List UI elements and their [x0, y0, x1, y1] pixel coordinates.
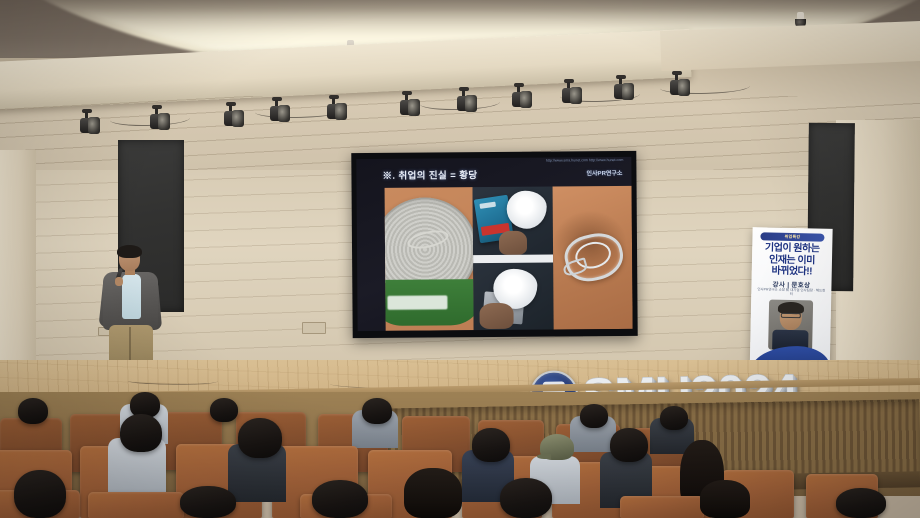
- stage-light-icon: [612, 78, 634, 104]
- audience-head: [312, 480, 368, 518]
- stage-light-icon: [398, 94, 420, 120]
- banner-speaker-photo: [768, 300, 813, 351]
- audience-head: [700, 480, 750, 518]
- stage-light-icon: [148, 108, 170, 134]
- audience-head: [362, 398, 392, 424]
- audience-head: [238, 418, 282, 458]
- audience-head: [580, 404, 608, 428]
- presentation-slide: http://www.sma.hunet.com http://www.hune…: [356, 157, 632, 331]
- banner-speaker-affiliation: 인사PR연구소 소장 前 대기업 인사팀장 · 헤드헌터: [756, 287, 826, 297]
- slide-url-text: http://www.sma.hunet.com http://www.hune…: [546, 158, 624, 163]
- audience-head: [610, 428, 648, 462]
- presenter-hair: [117, 245, 142, 258]
- audience-head: [180, 486, 236, 518]
- stage-light-icon: [78, 112, 100, 138]
- audience-head: [472, 428, 510, 462]
- stage-light-icon: [668, 74, 690, 100]
- stage-light-icon: [268, 100, 290, 126]
- audience-head: [120, 414, 162, 452]
- projection-screen: http://www.sma.hunet.com http://www.hune…: [351, 151, 637, 338]
- banner-headline-line3: 바뀌었다!!: [757, 265, 827, 278]
- tuna-can-photo: [385, 187, 474, 331]
- presenter-hand: [115, 277, 123, 286]
- banner-headline-line1: 기업이 원하는: [757, 242, 827, 255]
- stage-light-icon: [222, 105, 244, 131]
- wall-pilaster-left: [0, 150, 36, 380]
- audience-head: [14, 470, 66, 518]
- audience-head: [660, 406, 688, 430]
- audience-head: [836, 488, 886, 518]
- audience-head: [404, 468, 462, 518]
- stage-light-icon: [325, 98, 347, 124]
- presenter-shirt: [122, 274, 141, 319]
- wall-outlet: [302, 322, 326, 334]
- pull-tab-ring-photo: [553, 186, 633, 330]
- audience-cap: [540, 434, 574, 460]
- banner-headline: 기업이 원하는 인재는 이미 바뀌었다!!: [757, 242, 828, 278]
- slide-image-grid: [357, 186, 633, 331]
- seat: [88, 492, 184, 518]
- stage-light-icon: [455, 90, 477, 116]
- tissue-box-photo-bottom: [473, 263, 554, 331]
- stage-light-icon: [510, 86, 532, 112]
- audience-head: [210, 398, 238, 422]
- auditorium-lecture-scene: http://www.sma.hunet.com http://www.hune…: [0, 0, 920, 518]
- tissue-box-photo-top: [473, 187, 554, 258]
- audience-head: [18, 398, 48, 424]
- banner-tag: 취업특강: [760, 232, 824, 241]
- stage-light-icon: [560, 82, 582, 108]
- audience-head: [500, 478, 552, 518]
- slide-brand-logo: 인사PR연구소: [586, 168, 622, 177]
- slide-title: ※. 취업의 진실 = 황당: [382, 167, 477, 182]
- seat: [620, 496, 704, 518]
